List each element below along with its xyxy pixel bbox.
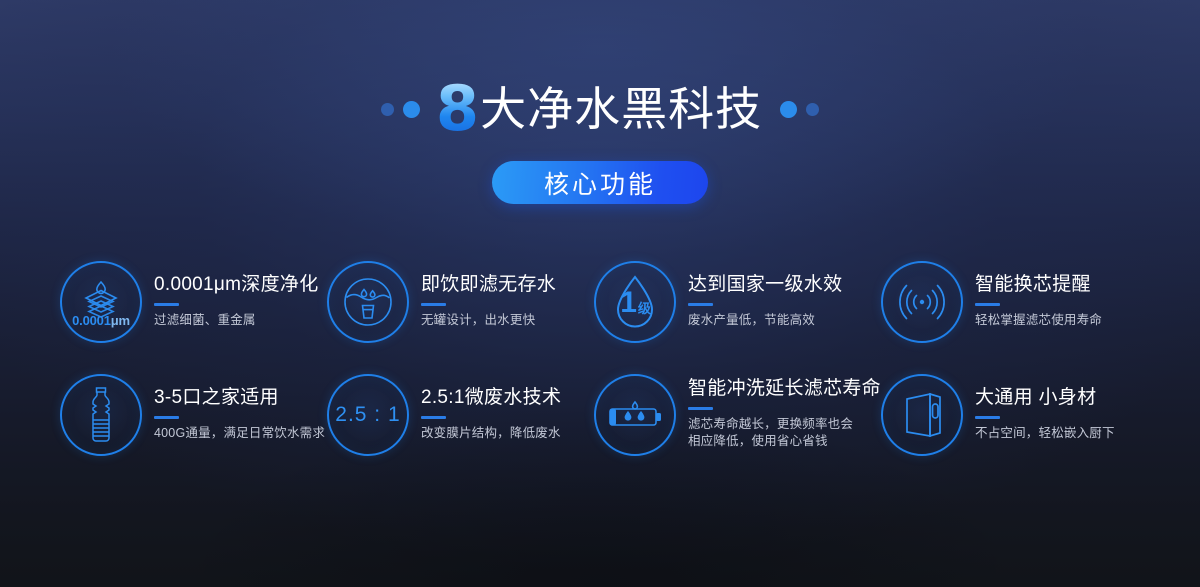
feature-card: 即饮即滤无存水 无罐设计，出水更快 xyxy=(327,245,594,358)
page-header: 8 大净水黑科技 核心功能 xyxy=(0,0,1200,204)
feature-text: 智能冲洗延长滤芯寿命 滤芯寿命越长，更换频率也会 相应降低，使用省心省钱 xyxy=(688,378,881,450)
feature-subtitle: 400G通量，满足日常饮水需求 xyxy=(154,425,325,442)
water-glass-icon xyxy=(327,261,409,343)
badge-row: 核心功能 xyxy=(0,161,1200,204)
feature-card: 智能冲洗延长滤芯寿命 滤芯寿命越长，更换频率也会 相应降低，使用省心省钱 xyxy=(594,358,881,471)
feature-title: 即饮即滤无存水 xyxy=(421,274,556,296)
dot-icon xyxy=(381,103,394,116)
icon-label: 2.5 : 1 xyxy=(335,403,400,427)
feature-subtitle: 轻松掌握滤芯使用寿命 xyxy=(975,312,1102,329)
feature-title: 达到国家一级水效 xyxy=(688,274,842,296)
feature-card: 3-5口之家适用 400G通量，满足日常饮水需求 xyxy=(60,358,327,471)
feature-title: 智能换芯提醒 xyxy=(975,274,1102,296)
dot-icon xyxy=(780,101,797,118)
icon-label: 0.0001μm xyxy=(72,313,130,328)
feature-card: 2.5 : 1 2.5:1微废水技术 改变膜片结构，降低废水 xyxy=(327,358,594,471)
title-divider xyxy=(154,416,179,419)
feature-text: 智能换芯提醒 轻松掌握滤芯使用寿命 xyxy=(975,274,1102,329)
feature-text: 0.0001μm深度净化 过滤细菌、重金属 xyxy=(154,274,319,329)
feature-text: 大通用 小身材 不占空间，轻松嵌入厨下 xyxy=(975,387,1115,442)
water-bottle-icon xyxy=(60,374,142,456)
title-divider xyxy=(975,416,1000,419)
title-divider xyxy=(421,303,446,306)
feature-card: 大通用 小身材 不占空间，轻松嵌入厨下 xyxy=(881,358,1148,471)
feature-title: 智能冲洗延长滤芯寿命 xyxy=(688,378,881,400)
feature-card: 智能换芯提醒 轻松掌握滤芯使用寿命 xyxy=(881,245,1148,358)
title-divider xyxy=(421,416,446,419)
dot-icon xyxy=(806,103,819,116)
feature-subtitle: 滤芯寿命越长，更换频率也会 相应降低，使用省心省钱 xyxy=(688,416,881,451)
feature-title: 3-5口之家适用 xyxy=(154,387,325,409)
feature-card: 0.0001μm 0.0001μm深度净化 过滤细菌、重金属 xyxy=(60,245,327,358)
cabinet-unit-icon xyxy=(881,374,963,456)
headline-row: 8 大净水黑科技 xyxy=(0,78,1200,140)
title-divider xyxy=(688,303,713,306)
ratio-text-icon: 2.5 : 1 xyxy=(327,374,409,456)
headline-number: 8 xyxy=(436,78,480,140)
title-divider xyxy=(154,303,179,306)
feature-title: 2.5:1微废水技术 xyxy=(421,387,561,409)
wifi-signal-icon xyxy=(881,261,963,343)
feature-title: 大通用 小身材 xyxy=(975,387,1115,409)
feature-subtitle: 改变膜片结构，降低废水 xyxy=(421,425,561,442)
feature-title: 0.0001μm深度净化 xyxy=(154,274,319,296)
title-divider xyxy=(688,407,713,410)
feature-grid: 0.0001μm 0.0001μm深度净化 过滤细菌、重金属 xyxy=(0,245,1200,471)
feature-text: 2.5:1微废水技术 改变膜片结构，降低废水 xyxy=(421,387,561,442)
dot-icon xyxy=(403,101,420,118)
feature-subtitle: 过滤细菌、重金属 xyxy=(154,312,319,329)
page-title: 大净水黑科技 xyxy=(480,86,762,132)
feature-card: 1级 达到国家一级水效 废水产量低，节能高效 xyxy=(594,245,881,358)
decorative-dots-right xyxy=(780,101,819,118)
core-function-badge: 核心功能 xyxy=(492,161,708,204)
feature-text: 达到国家一级水效 废水产量低，节能高效 xyxy=(688,274,842,329)
feature-subtitle: 无罐设计，出水更快 xyxy=(421,312,556,329)
feature-text: 3-5口之家适用 400G通量，满足日常饮水需求 xyxy=(154,387,325,442)
feature-subtitle: 不占空间，轻松嵌入厨下 xyxy=(975,425,1115,442)
promo-page: 8 大净水黑科技 核心功能 0.0001μm xyxy=(0,0,1200,587)
title-divider xyxy=(975,303,1000,306)
icon-label: 1级 xyxy=(620,288,651,318)
water-drop-grade-icon: 1级 xyxy=(594,261,676,343)
filter-cartridge-icon xyxy=(594,374,676,456)
membrane-layers-icon: 0.0001μm xyxy=(60,261,142,343)
feature-subtitle: 废水产量低，节能高效 xyxy=(688,312,842,329)
decorative-dots-left xyxy=(381,101,420,118)
feature-text: 即饮即滤无存水 无罐设计，出水更快 xyxy=(421,274,556,329)
